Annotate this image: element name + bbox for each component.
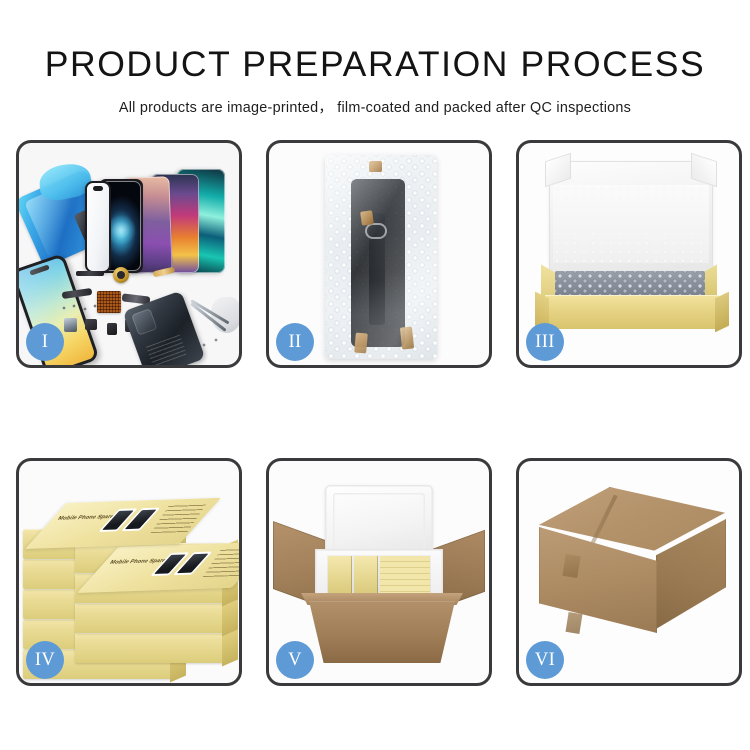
bubble-wrap-sleeve-icon (325, 155, 437, 359)
step-badge-6: VI (526, 641, 564, 679)
page-subtitle: All products are image-printed， film-coa… (0, 96, 750, 117)
step-panel-4: Mobile Phone Spare Parts Mobile Phone Sp… (16, 458, 242, 686)
step-badge-3: III (526, 323, 564, 361)
kraft-box-front-icon (545, 295, 719, 329)
speaker-module-icon (64, 318, 77, 332)
header: PRODUCT PREPARATION PROCESS All products… (0, 0, 750, 117)
flex-cable-icon (62, 288, 93, 299)
tweezers-icon (187, 291, 239, 337)
step-badge-5: V (276, 641, 314, 679)
foam-lid-icon (325, 485, 433, 559)
page-title: PRODUCT PREPARATION PROCESS (0, 44, 750, 85)
ic-chip-icon (107, 323, 117, 335)
yellow-box-icon (328, 556, 352, 596)
step-badge-2: II (276, 323, 314, 361)
tape-seal-icon (566, 612, 583, 634)
process-step-grid: I II (16, 140, 734, 680)
ic-chip-icon (85, 319, 97, 330)
step-panel-1: I (16, 140, 242, 368)
yellow-boxes-flat-stack (380, 556, 430, 596)
screws-icon (61, 303, 101, 313)
carton-front-panel (309, 601, 455, 663)
yellow-box-icon (354, 556, 378, 596)
retail-box-icon (75, 633, 225, 663)
vibration-coil-icon (113, 267, 129, 283)
step-panel-6: VI (516, 458, 742, 686)
plastic-sheen (325, 155, 437, 359)
retail-box-icon (75, 603, 225, 633)
yellow-boxes-row (327, 555, 431, 597)
product-preparation-infographic: PRODUCT PREPARATION PROCESS All products… (0, 0, 750, 750)
step-panel-5: V (266, 458, 492, 686)
retail-box-printed-lid: Mobile Phone Spare Parts (25, 498, 221, 549)
step-panel-3: III (516, 140, 742, 368)
foam-sheet-icon (553, 185, 709, 263)
step-panel-2: II (266, 140, 492, 368)
step-badge-4: IV (26, 641, 64, 679)
step-badge-1: I (26, 323, 64, 361)
connector-bar-icon (76, 271, 104, 276)
gold-flex-cable-icon (153, 267, 176, 278)
